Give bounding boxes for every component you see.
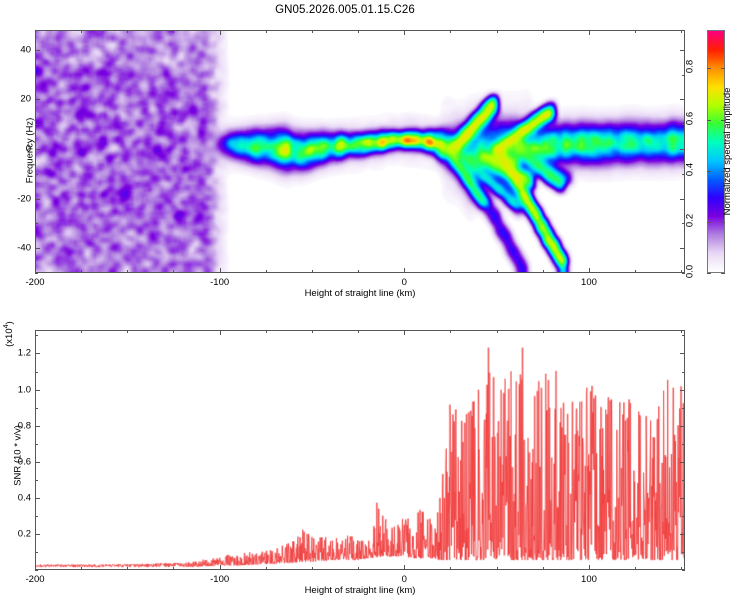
snr-xtick [35, 330, 36, 335]
colorbar-title: Normalized spectral amplitude [722, 30, 736, 273]
snr-ytick [680, 498, 685, 499]
spectrogram-xtick-minor [173, 270, 174, 273]
colorbar-tick [721, 273, 725, 274]
spectrogram-yticklabel: 40 [7, 44, 31, 55]
spectrogram-xtick-minor [450, 30, 451, 33]
spectrogram-xtick-minor [543, 270, 544, 273]
spectrogram-ylabel: Frequency (Hz) [25, 91, 36, 211]
snr-ytick [682, 444, 685, 445]
snr-ytick [680, 390, 685, 391]
spectrogram-ytick [35, 273, 38, 274]
snr-ytick [35, 480, 38, 481]
colorbar-tick [707, 120, 711, 121]
snr-xticklabel: -200 [25, 574, 44, 585]
spectrogram-ytick [35, 50, 40, 51]
spectrogram-ytick [35, 223, 38, 224]
snr-ytick [680, 462, 685, 463]
snr-xtick [127, 567, 128, 570]
snr-ytick [680, 534, 685, 535]
snr-ytick [35, 552, 38, 553]
spectrogram-xtick [404, 268, 405, 273]
snr-xtick-minor [450, 567, 451, 570]
snr-yticklabel: 1.0 [7, 384, 31, 395]
snr-xtick [404, 330, 405, 335]
snr-xtick-minor [450, 330, 451, 333]
spectrogram-xtick [127, 30, 128, 33]
snr-xtick-minor [543, 567, 544, 570]
snr-xticklabel: -100 [210, 574, 229, 585]
spectrogram-image [36, 31, 684, 272]
spectrogram-xtick-minor [358, 270, 359, 273]
spectrogram-xtick [497, 30, 498, 33]
snr-xtick [497, 567, 498, 570]
snr-ytick [680, 426, 685, 427]
spectrogram-xtick [312, 30, 313, 33]
snr-ytick [680, 353, 685, 354]
spectrogram-xtick-minor [81, 30, 82, 33]
spectrogram-ytick [680, 149, 685, 150]
spectrogram-xtick-minor [543, 30, 544, 33]
spectrogram-xtick [220, 268, 221, 273]
colorbar-tick [707, 171, 711, 172]
spectrogram-xticklabel: -200 [25, 277, 44, 288]
snr-ytick [35, 462, 40, 463]
snr-ytick [682, 570, 685, 571]
colorbar-tick [707, 222, 711, 223]
spectrogram-ytick [680, 50, 685, 51]
snr-panel [35, 330, 685, 570]
spectrogram-xtick [589, 30, 590, 35]
snr-xtick [127, 330, 128, 333]
colorbar-ticklabel: 0.8 [685, 54, 696, 80]
snr-trace [36, 331, 684, 569]
snr-xtick-minor [635, 330, 636, 333]
spectrogram-xtick [681, 30, 682, 33]
snr-ytick [35, 353, 40, 354]
snr-xtick-minor [543, 330, 544, 333]
spectrogram-xtick [127, 270, 128, 273]
spectrogram-xtick-minor [266, 270, 267, 273]
spectrogram-ytick [680, 199, 685, 200]
snr-xtick-minor [81, 330, 82, 333]
spectrogram-xtick-minor [450, 270, 451, 273]
snr-xtick [589, 565, 590, 570]
figure-root: GN05.2026.005.01.15.C26 -200-1000100-40-… [0, 0, 750, 600]
spectrogram-xtick [589, 268, 590, 273]
spectrogram-xtick-minor [266, 30, 267, 33]
snr-xtick-minor [635, 567, 636, 570]
snr-ytick [35, 570, 38, 571]
snr-xtick-minor [81, 567, 82, 570]
spectrogram-xtick [35, 30, 36, 35]
spectrogram-xtick-minor [635, 270, 636, 273]
snr-ytick [682, 480, 685, 481]
snr-ytick [682, 552, 685, 553]
spectrogram-xtick-minor [358, 30, 359, 33]
snr-xtick [589, 330, 590, 335]
colorbar-ticklabel: 0.4 [685, 156, 696, 182]
spectrogram-xtick-minor [81, 270, 82, 273]
spectrogram-xtick-minor [635, 30, 636, 33]
snr-xtick [220, 565, 221, 570]
snr-ytick [35, 408, 38, 409]
snr-ytick [35, 444, 38, 445]
spectrogram-xtick [220, 30, 221, 35]
spectrogram-ytick [680, 99, 685, 100]
snr-xtick [404, 565, 405, 570]
spectrogram-xlabel: Height of straight line (km) [305, 288, 416, 299]
snr-xtick [497, 330, 498, 333]
snr-yticklabel: 0.2 [7, 528, 31, 539]
spectrogram-xtick [312, 270, 313, 273]
snr-xtick-minor [173, 567, 174, 570]
spectrogram-ytick [35, 199, 40, 200]
snr-ytick [682, 408, 685, 409]
spectrogram-xticklabel: -100 [210, 277, 229, 288]
snr-xtick-minor [173, 330, 174, 333]
colorbar-tick [707, 273, 711, 274]
snr-ytick [35, 498, 40, 499]
snr-ytick [35, 335, 38, 336]
colorbar-ticklabel: 0.6 [685, 105, 696, 131]
snr-ytick [35, 390, 40, 391]
figure-title: GN05.2026.005.01.15.C26 [0, 4, 690, 16]
spectrogram-ytick [680, 248, 685, 249]
snr-ytick [35, 372, 38, 373]
snr-xtick [220, 330, 221, 335]
spectrogram-xticklabel: 100 [581, 277, 597, 288]
colorbar-ticklabel: 0.2 [685, 207, 696, 233]
spectrogram-ytick [35, 99, 40, 100]
snr-scale-exponent: 4 [3, 324, 10, 328]
snr-xtick-minor [266, 567, 267, 570]
spectrogram-ytick [35, 75, 38, 76]
snr-ytick [682, 372, 685, 373]
snr-xtick-minor [266, 330, 267, 333]
snr-scale-annotation: (x104) [3, 311, 15, 357]
snr-xtick [681, 330, 682, 333]
spectrogram-ytick [35, 248, 40, 249]
snr-ytick [682, 335, 685, 336]
snr-ytick [682, 516, 685, 517]
snr-xlabel: Height of straight line (km) [305, 585, 416, 596]
spectrogram-xtick-minor [173, 30, 174, 33]
snr-xticklabel: 0 [402, 574, 407, 585]
snr-xtick [312, 330, 313, 333]
snr-ytick [35, 534, 40, 535]
spectrogram-xtick [404, 30, 405, 35]
snr-ytick [35, 426, 40, 427]
snr-xtick-minor [358, 330, 359, 333]
spectrogram-xtick [497, 270, 498, 273]
colorbar-ticklabel: 0.0 [685, 259, 696, 285]
snr-xtick-minor [358, 567, 359, 570]
snr-xticklabel: 100 [581, 574, 597, 585]
colorbar-tick [707, 68, 711, 69]
spectrogram-yticklabel: -40 [7, 243, 31, 254]
snr-ytick [35, 516, 38, 517]
snr-ylabel: SNR (10 * v/v) [13, 396, 24, 516]
spectrogram-xticklabel: 0 [402, 277, 407, 288]
spectrogram-ytick [35, 149, 40, 150]
spectrogram-panel [35, 30, 685, 273]
snr-xtick [312, 567, 313, 570]
